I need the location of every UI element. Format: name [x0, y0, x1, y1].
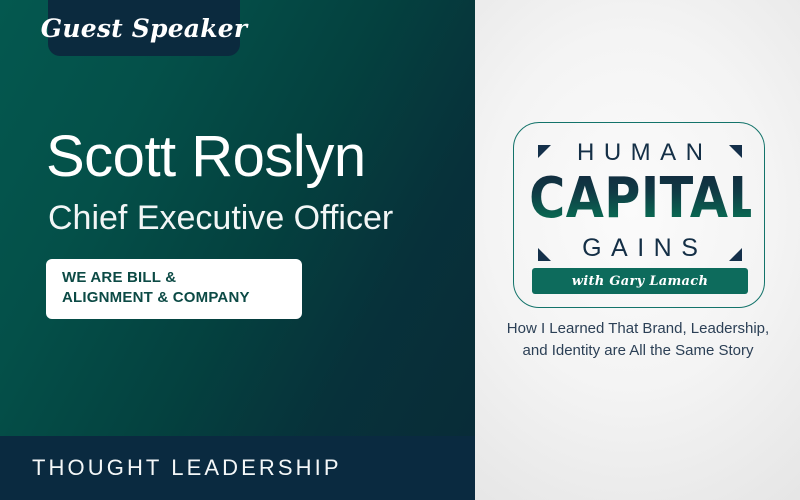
podcast-logo-frame: HUMAN CAPITAL GAINS with Gary Lamach — [513, 122, 765, 308]
speaker-announcement-graphic: Guest Speaker Scott Roslyn Chief Executi… — [0, 0, 800, 500]
company-card-line-1: WE ARE BILL & — [62, 268, 286, 288]
podcast-logo-word-human: HUMAN — [514, 141, 766, 165]
left-gradient-panel: Guest Speaker Scott Roslyn Chief Executi… — [0, 0, 475, 500]
podcast-host-credit-label: with Gary Lamach — [572, 274, 708, 289]
company-card: WE ARE BILL & ALIGNMENT & COMPANY — [46, 259, 302, 319]
podcast-logo: HUMAN CAPITAL GAINS with Gary Lamach — [514, 123, 766, 309]
company-card-line-2: ALIGNMENT & COMPANY — [62, 288, 286, 308]
episode-title: How I Learned That Brand, Leadership, an… — [497, 318, 779, 362]
right-light-panel: HUMAN CAPITAL GAINS with Gary Lamach How… — [475, 0, 800, 500]
podcast-logo-word-gains: GAINS — [514, 236, 766, 261]
footer-banner-label: THOUGHT LEADERSHIP — [32, 455, 342, 481]
footer-banner: THOUGHT LEADERSHIP — [0, 436, 475, 500]
guest-speaker-badge: Guest Speaker — [48, 0, 240, 56]
podcast-host-credit-bar: with Gary Lamach — [532, 268, 748, 294]
podcast-logo-word-capital: CAPITAL — [529, 171, 751, 227]
guest-speaker-badge-label: Guest Speaker — [41, 14, 247, 43]
speaker-name: Scott Roslyn — [46, 128, 366, 186]
speaker-job-title: Chief Executive Officer — [48, 200, 393, 237]
